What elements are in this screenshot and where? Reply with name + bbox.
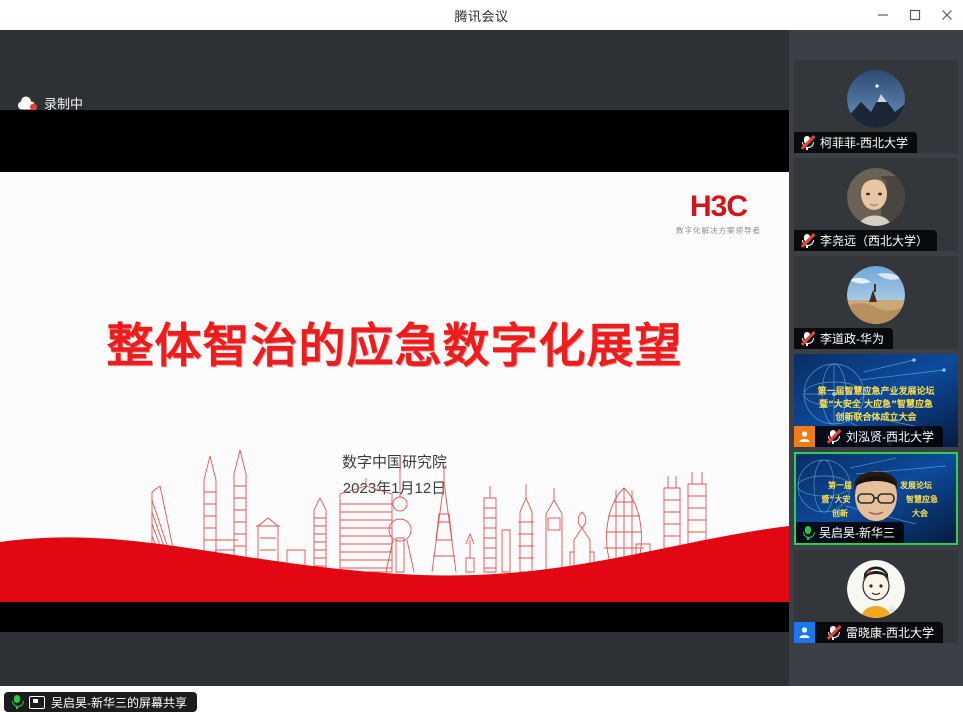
- participant-sidebar[interactable]: 柯菲菲-西北大学: [789, 30, 963, 686]
- participant-name: 李道政-华为: [820, 330, 884, 347]
- letterbox-top: [0, 110, 789, 172]
- svg-text:创新联合体成立大会: 创新联合体成立大会: [834, 411, 917, 423]
- h3c-logo-mark: H3C: [676, 192, 761, 222]
- window-controls: [867, 0, 963, 30]
- window-title: 腾讯会议: [454, 6, 508, 25]
- slide-title: 整体智治的应急数字化展望: [0, 307, 789, 376]
- close-icon[interactable]: [931, 0, 963, 30]
- svg-text:智慧应急: 智慧应急: [906, 494, 938, 504]
- cloud-record-icon: [18, 96, 37, 110]
- letterbox-bottom: [0, 602, 789, 632]
- participant-tile[interactable]: 第一届智慧应急产业发展论坛 暨“大安全 大应急”智慧应急 创新联合体成立大会 刘…: [794, 354, 958, 447]
- svg-text:创新: 创新: [831, 508, 848, 518]
- microphone-muted-icon: [800, 135, 815, 150]
- microphone-muted-icon: [826, 429, 841, 444]
- shared-screen-stage: 录制中 H3C 数字化解决方案领导者 整体智治的应急数字化展望 数字中国研究院 …: [0, 30, 789, 686]
- svg-text:暨“大安: 暨“大安: [821, 494, 850, 504]
- svg-text:暨“大安全 大应急”智慧应急: 暨“大安全 大应急”智慧应急: [819, 398, 933, 410]
- mountain-night-avatar: [847, 70, 905, 128]
- member-badge-icon: [794, 622, 815, 643]
- minimize-icon[interactable]: [867, 0, 899, 30]
- participant-tile-active[interactable]: 第一届 发展论坛 暨“大安 智慧应急 创新 大会: [794, 452, 958, 545]
- maximize-icon[interactable]: [899, 0, 931, 30]
- participant-name: 刘泓贤-西北大学: [846, 428, 934, 445]
- svg-text:第一届智慧应急产业发展论坛: 第一届智慧应急产业发展论坛: [817, 385, 934, 397]
- participant-name-pill: 柯菲菲-西北大学: [794, 132, 917, 153]
- microphone-muted-icon: [800, 331, 815, 346]
- microphone-on-icon: [11, 695, 23, 709]
- participant-name-pill: 李尧远（西北大学）: [794, 230, 937, 251]
- meeting-window: 腾讯会议 录制中 H3C 数字化解决方案: [0, 0, 963, 686]
- presentation-slide: H3C 数字化解决方案领导者 整体智治的应急数字化展望 数字中国研究院 2023…: [0, 172, 789, 602]
- host-badge-icon: [794, 426, 815, 447]
- city-skyline-illustration: [0, 422, 789, 602]
- participant-name-pill: 吴启昊-新华三: [796, 522, 904, 543]
- microphone-muted-icon: [800, 233, 815, 248]
- participant-name: 李尧远（西北大学）: [820, 232, 928, 249]
- participant-tile[interactable]: 李尧远（西北大学）: [794, 158, 958, 251]
- svg-text:发展论坛: 发展论坛: [899, 480, 932, 490]
- participant-name-pill: 李道政-华为: [794, 328, 893, 349]
- participant-tile[interactable]: 雷晓康-西北大学: [794, 550, 958, 643]
- participant-name: 吴启昊-新华三: [819, 524, 895, 541]
- cartoon-person-avatar: [847, 560, 905, 618]
- participant-name: 柯菲菲-西北大学: [820, 134, 908, 151]
- participant-name-pill: 雷晓康-西北大学: [794, 622, 943, 643]
- svg-text:大会: 大会: [912, 508, 928, 518]
- microphone-muted-icon: [826, 625, 841, 640]
- participant-tile[interactable]: 李道政-华为: [794, 256, 958, 349]
- participant-name: 雷晓康-西北大学: [846, 624, 934, 641]
- window-title-bar: 腾讯会议: [0, 0, 963, 31]
- microphone-on-icon: [802, 526, 814, 540]
- svg-text:第一届: 第一届: [828, 480, 852, 490]
- screen-share-label: 吴启昊-新华三的屏幕共享: [51, 694, 187, 711]
- participant-name-pill: 刘泓贤-西北大学: [794, 426, 943, 447]
- person-photo-avatar: [847, 168, 905, 226]
- h3c-logo-tagline: 数字化解决方案领导者: [676, 225, 761, 236]
- recording-bar: [0, 30, 789, 110]
- desert-sky-avatar: [847, 266, 905, 324]
- screen-share-status: 吴启昊-新华三的屏幕共享: [4, 692, 197, 712]
- screen-share-icon: [29, 696, 45, 709]
- h3c-logo: H3C 数字化解决方案领导者: [676, 192, 761, 236]
- participant-tile[interactable]: 柯菲菲-西北大学: [794, 60, 958, 153]
